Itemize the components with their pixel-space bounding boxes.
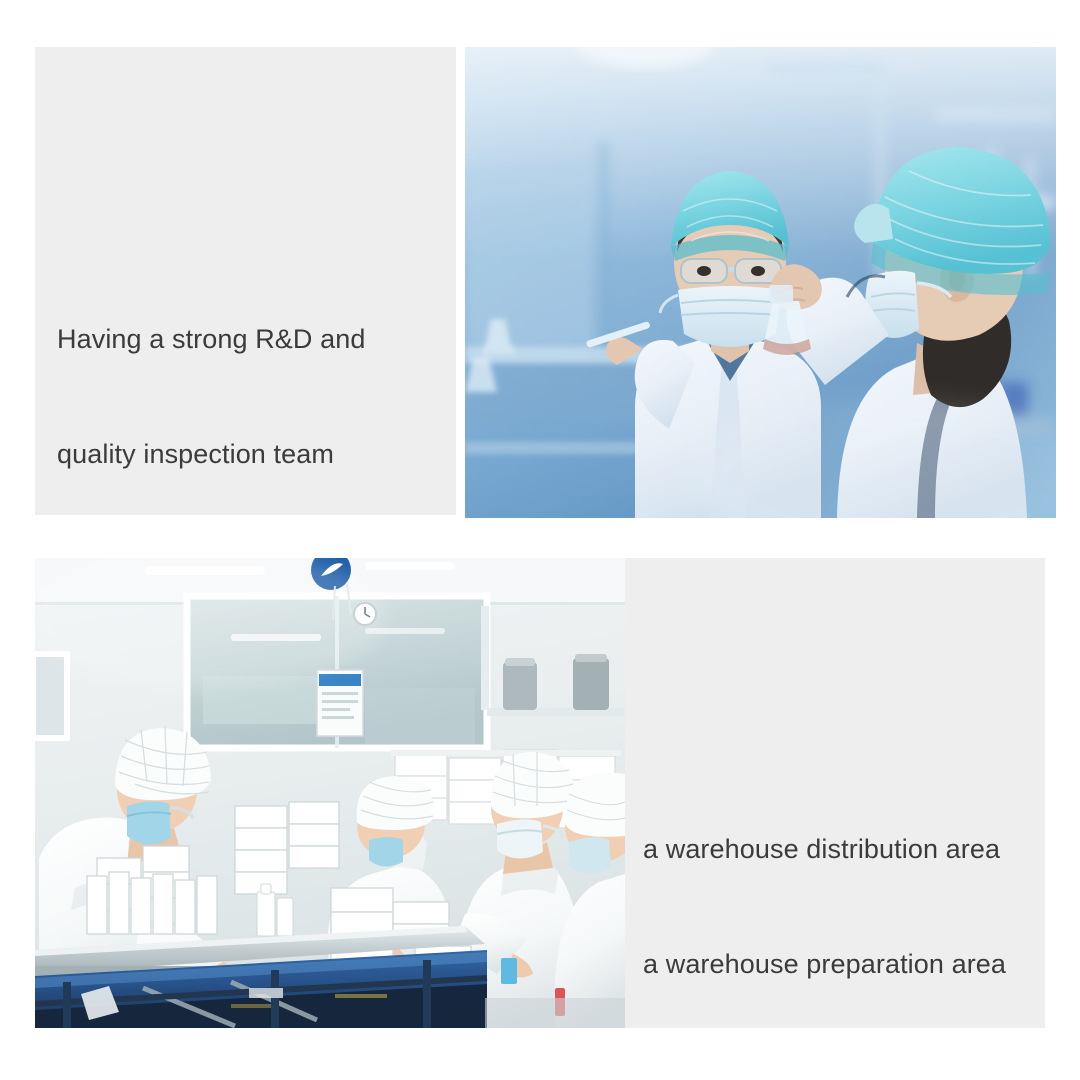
top-caption-line-1: Having a strong R&D and (57, 320, 447, 358)
top-caption: Having a strong R&D and quality inspecti… (57, 243, 447, 550)
lab-inspection-illustration (465, 47, 1056, 518)
top-section: Having a strong R&D and quality inspecti… (0, 0, 1080, 540)
bottom-caption: a warehouse distribution area a warehous… (643, 753, 1043, 1060)
bottom-caption-line-2: a warehouse preparation area (643, 945, 1043, 983)
lab-inspection-photo (465, 47, 1056, 518)
top-caption-line-2: quality inspection team (57, 435, 447, 473)
slide-root: Having a strong R&D and quality inspecti… (0, 0, 1080, 1080)
bottom-caption-line-1: a warehouse distribution area (643, 830, 1043, 868)
bottom-section: a warehouse distribution area a warehous… (0, 540, 1080, 1080)
warehouse-packing-photo (35, 558, 625, 1028)
warehouse-packing-illustration (35, 558, 625, 1028)
